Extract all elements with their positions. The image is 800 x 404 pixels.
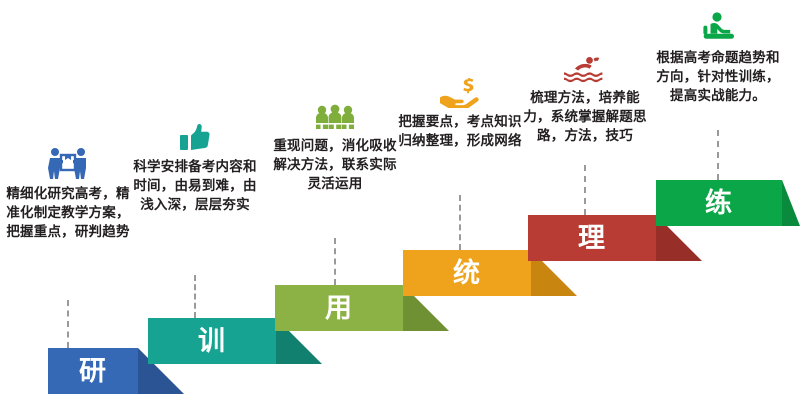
step-face-5: 理 xyxy=(528,215,656,261)
thumbs-up-icon xyxy=(125,113,265,153)
step-column-1: 精细化研究高考，精准化制定教学方案，把握重点，研判趋势 xyxy=(0,140,138,241)
step-description-1: 精细化研究高考，精准化制定教学方案，把握重点，研判趋势 xyxy=(0,184,138,241)
step-description-6: 根据高考命题趋势和方向，针对性训练，提高实战能力。 xyxy=(648,48,788,105)
three-people-group-icon xyxy=(265,92,405,132)
step-label-5: 理 xyxy=(578,225,606,252)
step-connector-1 xyxy=(67,300,69,348)
step-description-3: 重现问题，消化吸收解决方法，联系实际灵活运用 xyxy=(265,136,405,193)
step-description-5: 梳理方法，培养能力，系统掌握解题思路，方法，技巧 xyxy=(515,88,655,145)
two-people-carrying-box-icon xyxy=(0,140,138,180)
step-connector-6 xyxy=(717,130,719,180)
step-connector-4 xyxy=(459,195,461,250)
step-face-2: 训 xyxy=(148,318,276,364)
step-face-3: 用 xyxy=(275,285,403,331)
step-face-4: 统 xyxy=(403,250,531,296)
step-column-3: 重现问题，消化吸收解决方法，联系实际灵活运用 xyxy=(265,92,405,193)
step-face-6: 练 xyxy=(656,180,782,226)
step-column-5: 梳理方法，培养能力，系统掌握解题思路，方法，技巧 xyxy=(515,44,655,145)
infographic-canvas: 精细化研究高考，精准化制定教学方案，把握重点，研判趋势 研 科学安排备考内容和时… xyxy=(0,0,800,404)
step-label-2: 训 xyxy=(198,328,226,355)
step-column-2: 科学安排备考内容和时间，由易到难，由浅入深，层层夯实 xyxy=(125,113,265,214)
step-connector-3 xyxy=(334,238,336,285)
step-label-6: 练 xyxy=(705,190,733,217)
step-label-3: 用 xyxy=(325,295,353,322)
step-connector-2 xyxy=(194,275,196,318)
step-column-4: 把握要点，考点知识归纳整理，形成网络 xyxy=(390,68,530,150)
person-reading-icon xyxy=(648,4,788,44)
step-description-4: 把握要点，考点知识归纳整理，形成网络 xyxy=(390,112,530,150)
swimmer-icon xyxy=(515,44,655,84)
step-description-2: 科学安排备考内容和时间，由易到难，由浅入深，层层夯实 xyxy=(125,157,265,214)
step-label-4: 统 xyxy=(453,260,481,287)
step-face-1: 研 xyxy=(48,348,138,394)
step-column-6: 根据高考命题趋势和方向，针对性训练，提高实战能力。 xyxy=(648,4,788,105)
step-bevel-6 xyxy=(782,180,800,226)
hand-holding-money-icon xyxy=(390,68,530,108)
step-connector-5 xyxy=(584,165,586,215)
step-label-1: 研 xyxy=(79,358,107,385)
